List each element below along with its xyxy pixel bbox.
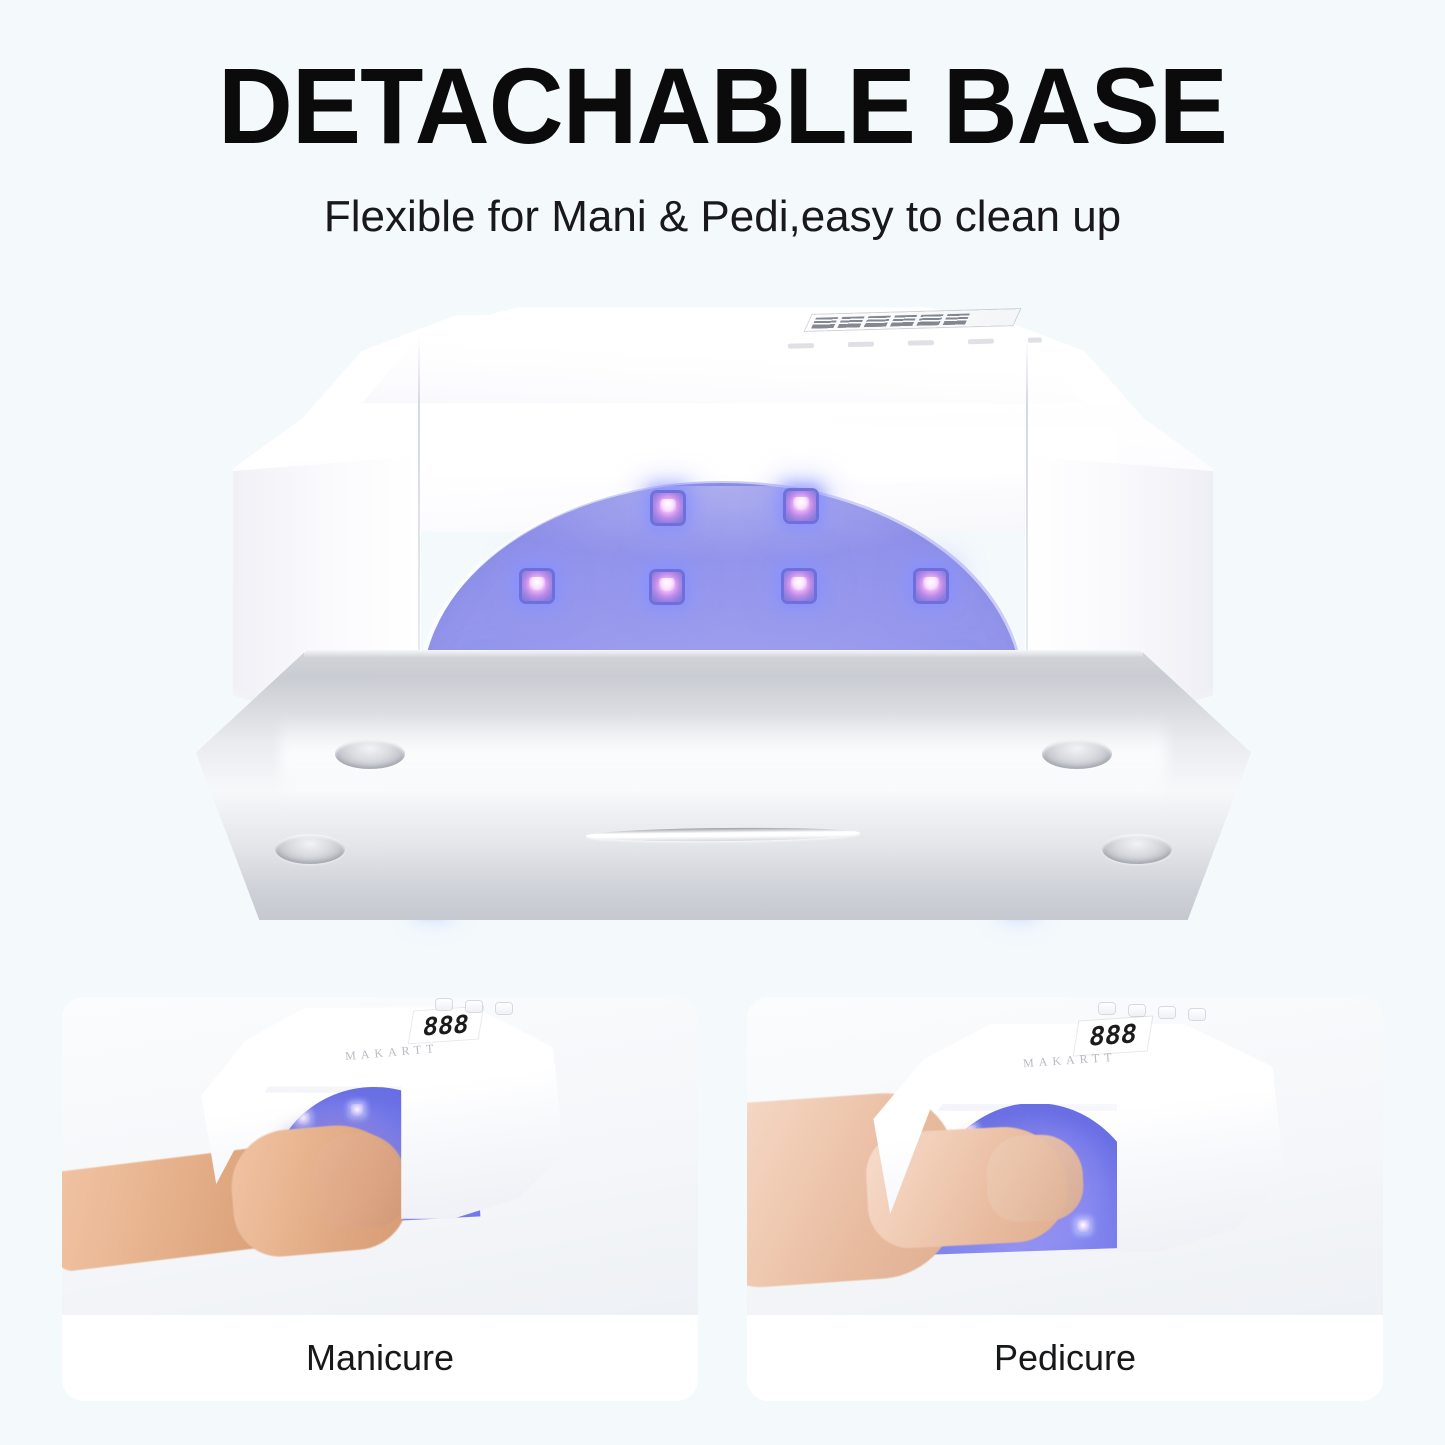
- panel-manicure[interactable]: MAKARTT 888 Manicure: [62, 997, 698, 1401]
- timer-button-30s[interactable]: [1129, 1005, 1145, 1016]
- lcd-segment: [943, 313, 970, 325]
- lcd-segment: [838, 316, 865, 328]
- lcd-value: 888: [1087, 1021, 1139, 1050]
- timer-button-99s[interactable]: [968, 339, 994, 345]
- lcd-display-pedicure: 888: [1074, 1017, 1152, 1056]
- detachable-base-plate: [196, 650, 1251, 920]
- lamp-cover: [228, 288, 1218, 708]
- hero-product-illustration: [0, 268, 1445, 968]
- lcd-segment: [917, 314, 944, 326]
- uv-led: [916, 571, 946, 601]
- base-top-edge: [304, 650, 1144, 657]
- lcd-segment: [811, 317, 838, 329]
- uv-led: [784, 571, 814, 601]
- uv-led: [653, 493, 683, 523]
- rubber-foot: [275, 834, 345, 864]
- manicure-photo: MAKARTT 888: [62, 997, 698, 1315]
- power-button[interactable]: [1028, 337, 1042, 342]
- lcd-segment: [890, 314, 917, 326]
- base-sheen: [280, 715, 1166, 807]
- timer-button-99s[interactable]: [1189, 1009, 1205, 1020]
- lcd-segment: [864, 315, 891, 327]
- timer-button-30s[interactable]: [848, 342, 874, 348]
- uv-led: [786, 491, 816, 521]
- uv-led: [350, 1103, 364, 1117]
- timer-button-99s[interactable]: [496, 1003, 512, 1014]
- page-title: DETACHABLE BASE: [29, 52, 1416, 160]
- timer-button-30s[interactable]: [436, 999, 452, 1010]
- pedicure-photo: MAKARTT 888: [747, 997, 1383, 1315]
- page-subtitle: Flexible for Mani & Pedi,easy to clean u…: [0, 192, 1445, 243]
- toes: [986, 1133, 1085, 1222]
- timer-button-60s[interactable]: [1159, 1007, 1175, 1018]
- lamp-gloss-highlight: [327, 414, 1119, 485]
- rubber-foot: [335, 739, 405, 769]
- rubber-foot: [1042, 739, 1112, 769]
- panel-caption-pedicure: Pedicure: [747, 1315, 1383, 1401]
- timer-button-10s[interactable]: [788, 343, 814, 349]
- timer-button-60s[interactable]: [908, 340, 934, 346]
- timer-button-10s[interactable]: [1099, 1003, 1115, 1014]
- uv-led: [1077, 1219, 1090, 1232]
- panel-caption-manicure: Manicure: [62, 1315, 698, 1401]
- rubber-foot: [1102, 834, 1172, 864]
- uv-led: [522, 571, 552, 601]
- lcd-display-manicure: 888: [409, 1007, 483, 1044]
- lcd-value: 888: [421, 1011, 471, 1039]
- timer-button-60s[interactable]: [466, 1001, 482, 1012]
- panel-pedicure[interactable]: MAKARTT 888 Pedicure: [747, 997, 1383, 1401]
- uv-led: [652, 572, 682, 602]
